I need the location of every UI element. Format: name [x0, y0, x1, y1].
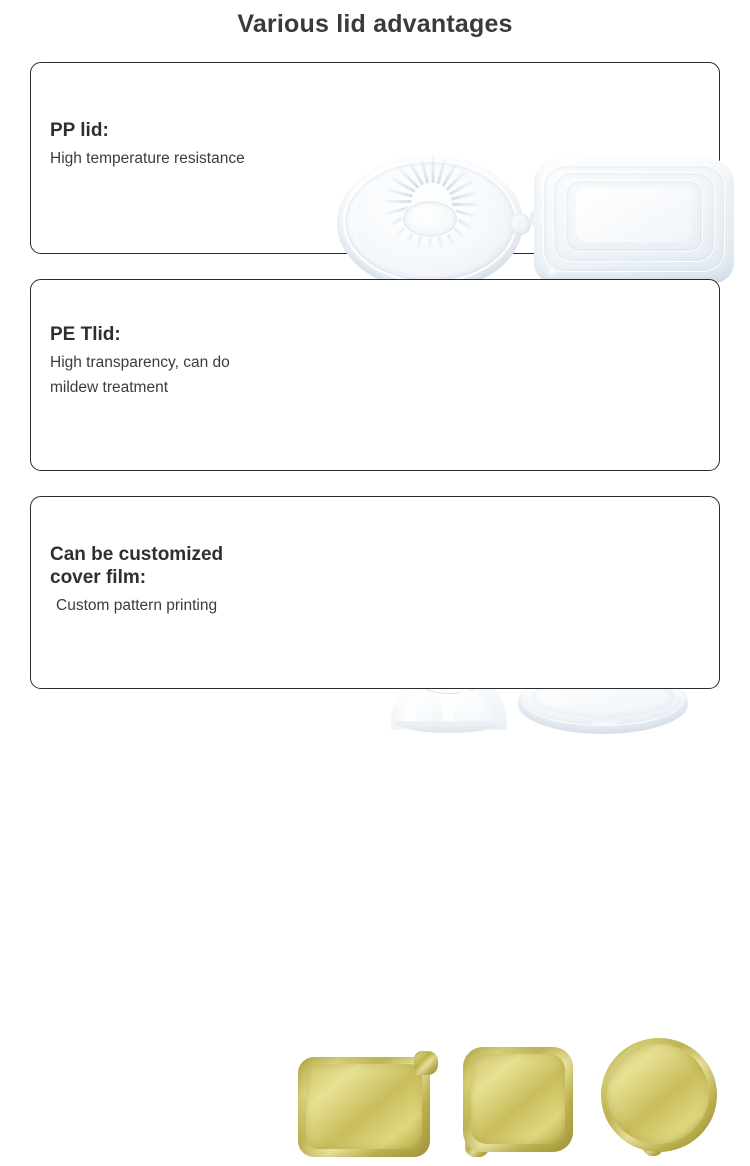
lid-side-tab [509, 213, 531, 235]
panel-pp-lid: PP lid: High temperature resistance [30, 62, 720, 254]
round-gold-foil-lid-image [601, 1038, 725, 1166]
pp-lid-heading: PP lid: [50, 119, 245, 142]
lid-base-ring [393, 721, 505, 733]
lid-corner-foot [548, 267, 558, 277]
lid-front-notch [590, 718, 618, 725]
square-gold-foil-lid-image [459, 1043, 581, 1165]
page-title: Various lid advantages [0, 10, 750, 39]
lid-side-notch [530, 210, 542, 226]
panel-pe-text-block: PE Tlid: High transparency, can do milde… [50, 323, 230, 400]
pe-tlid-heading: PE Tlid: [50, 323, 230, 346]
foil-face [306, 1064, 422, 1149]
panel-cover-film-text-block: Can be customized cover film: Custom pat… [50, 543, 223, 618]
foil-face [471, 1054, 565, 1144]
foil-face [607, 1044, 709, 1144]
panel-pp-text-block: PP lid: High temperature resistance [50, 119, 245, 171]
pp-lid-description: High temperature resistance [50, 146, 245, 171]
lid-flat-face [576, 188, 692, 242]
rectangular-pp-lid-image [534, 158, 734, 283]
cover-film-heading: Can be customized cover film: [50, 543, 223, 589]
cover-film-description: Custom pattern printing [50, 593, 223, 618]
lid-center-hub [403, 201, 457, 237]
panel-cover-film: Can be customized cover film: Custom pat… [30, 496, 720, 689]
panel-pe-tlid: PE Tlid: High transparency, can do milde… [30, 279, 720, 471]
pe-tlid-description: High transparency, can do mildew treatme… [50, 350, 230, 400]
foil-pull-tab [414, 1051, 438, 1075]
rectangular-gold-foil-lid-image [298, 1049, 438, 1159]
round-ribbed-pp-lid-image [337, 155, 523, 291]
